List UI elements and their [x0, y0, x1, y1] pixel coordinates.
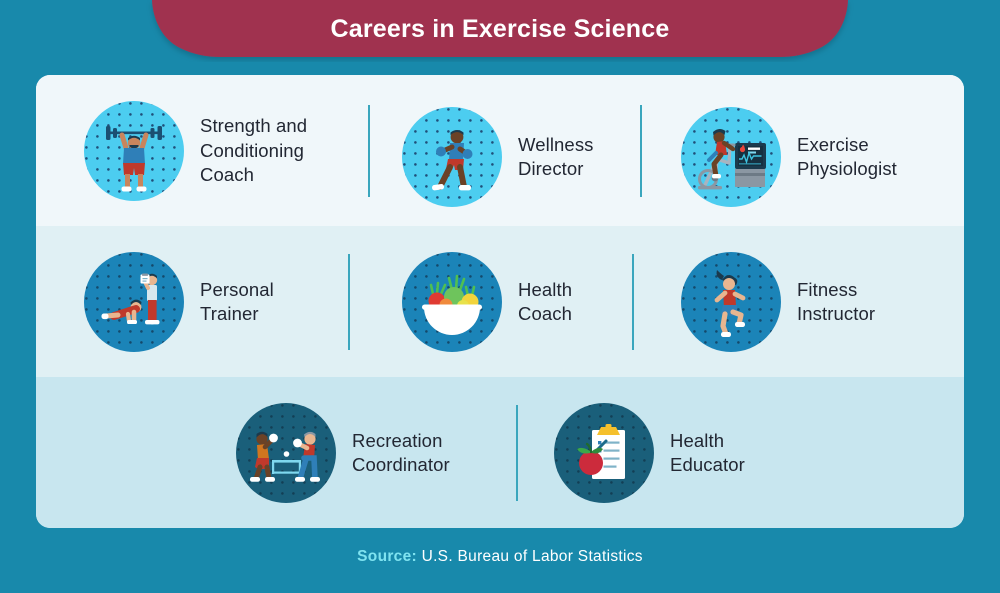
career-label: Strength and Conditioning Coach: [200, 114, 307, 187]
pushup-trainer-icon: [84, 252, 184, 352]
table-tennis-icon: [236, 403, 336, 503]
career-item-exercise-physiologist[interactable]: Exercise Physiologist: [681, 107, 897, 207]
column-divider: [632, 254, 634, 350]
career-label: Recreation Coordinator: [352, 429, 450, 478]
careers-row-3: Recreation Coordinator: [36, 377, 964, 528]
career-label: Health Coach: [518, 278, 572, 327]
career-item-fitness-instructor[interactable]: Fitness Instructor: [681, 252, 875, 352]
career-item-strength-and-conditioning-coach[interactable]: Strength and Conditioning Coach: [84, 101, 307, 201]
source-label: Source:: [357, 548, 417, 565]
career-label: Exercise Physiologist: [797, 133, 897, 182]
career-item-health-educator[interactable]: Health Educator: [554, 403, 745, 503]
career-label: Wellness Director: [518, 133, 594, 182]
careers-row-1: Strength and Conditioning Coach: [36, 75, 964, 226]
stationary-bike-monitor-icon: [681, 107, 781, 207]
career-item-wellness-director[interactable]: Wellness Director: [402, 107, 594, 207]
careers-card: Strength and Conditioning Coach: [36, 75, 964, 528]
career-label: Personal Trainer: [200, 278, 274, 327]
running-woman-icon: [681, 252, 781, 352]
column-divider: [516, 405, 518, 501]
career-item-recreation-coordinator[interactable]: Recreation Coordinator: [236, 403, 450, 503]
career-item-personal-trainer[interactable]: Personal Trainer: [84, 252, 274, 352]
column-divider: [368, 105, 370, 197]
boxer-icon: [402, 107, 502, 207]
career-item-health-coach[interactable]: Health Coach: [402, 252, 572, 352]
page-title: Careers in Exercise Science: [0, 0, 1000, 58]
column-divider: [640, 105, 642, 197]
source-text: U.S. Bureau of Labor Statistics: [422, 548, 643, 565]
career-label: Fitness Instructor: [797, 278, 875, 327]
careers-row-2: Personal Trainer: [36, 226, 964, 377]
title-banner: Careers in Exercise Science: [0, 0, 1000, 62]
career-label: Health Educator: [670, 429, 745, 478]
weightlifter-icon: [84, 101, 184, 201]
column-divider: [348, 254, 350, 350]
source-footer: Source: U.S. Bureau of Labor Statistics: [0, 548, 1000, 566]
clipboard-apple-icon: [554, 403, 654, 503]
fruit-bowl-icon: [402, 252, 502, 352]
